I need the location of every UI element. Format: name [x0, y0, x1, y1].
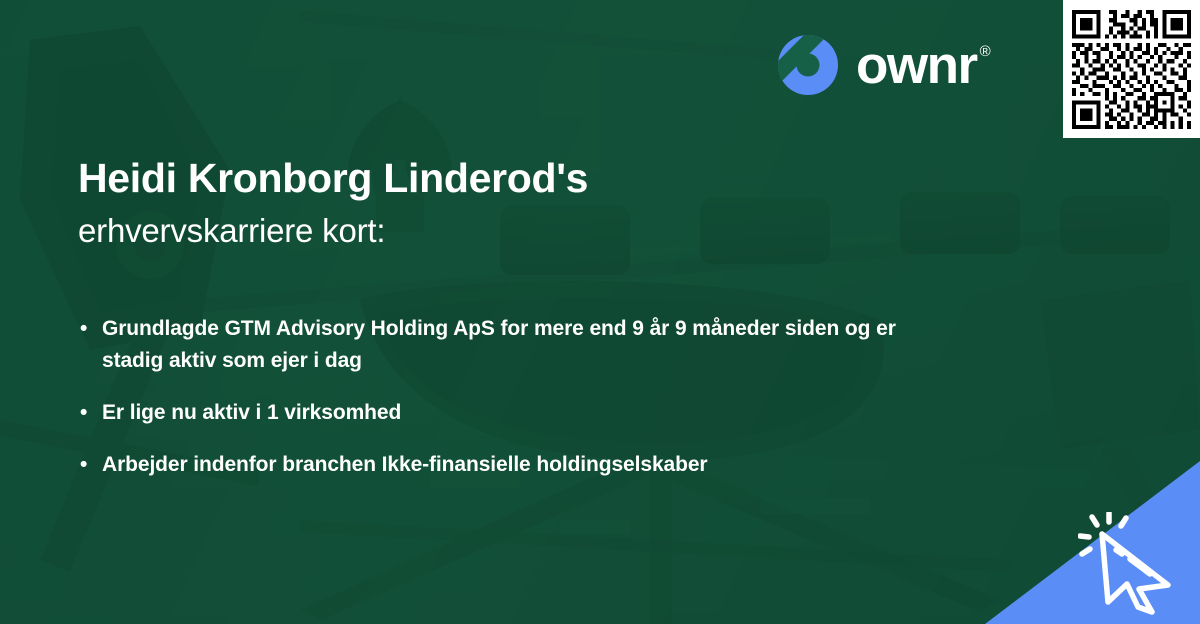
page-subtitle: erhvervskarriere kort: [78, 211, 918, 251]
green-overlay-flat [0, 0, 1200, 624]
list-item-text: Er lige nu aktiv i 1 virksomhed [102, 397, 960, 429]
qr-code-icon[interactable] [1072, 10, 1191, 129]
click-cursor-icon [1078, 512, 1186, 616]
headline-block: Heidi Kronborg Linderod's erhvervskarrie… [78, 156, 918, 251]
ownr-circle-swirl-icon [776, 33, 840, 97]
registered-trademark: ® [980, 44, 990, 59]
brand-wordmark: ownr ® [856, 39, 989, 92]
list-item-text: Grundlagde GTM Advisory Holding ApS for … [102, 313, 960, 377]
bullet-marker-icon: • [80, 313, 102, 377]
brand-lockup[interactable]: ownr ® [776, 33, 989, 97]
bullet-marker-icon: • [80, 449, 102, 481]
list-item: • Er lige nu aktiv i 1 virksomhed [80, 397, 960, 429]
qr-code-panel[interactable] [1063, 0, 1200, 138]
list-item: • Grundlagde GTM Advisory Holding ApS fo… [80, 313, 960, 377]
career-highlights-list: • Grundlagde GTM Advisory Holding ApS fo… [80, 313, 960, 481]
career-summary-card: ownr ® Heidi Kronborg Linderod's erhverv… [0, 0, 1200, 624]
bullet-marker-icon: • [80, 397, 102, 429]
page-title: Heidi Kronborg Linderod's [78, 156, 918, 202]
list-item-text: Arbejder indenfor branchen Ikke-finansie… [102, 449, 960, 481]
brand-name: ownr [856, 39, 977, 92]
list-item: • Arbejder indenfor branchen Ikke-finans… [80, 449, 960, 481]
